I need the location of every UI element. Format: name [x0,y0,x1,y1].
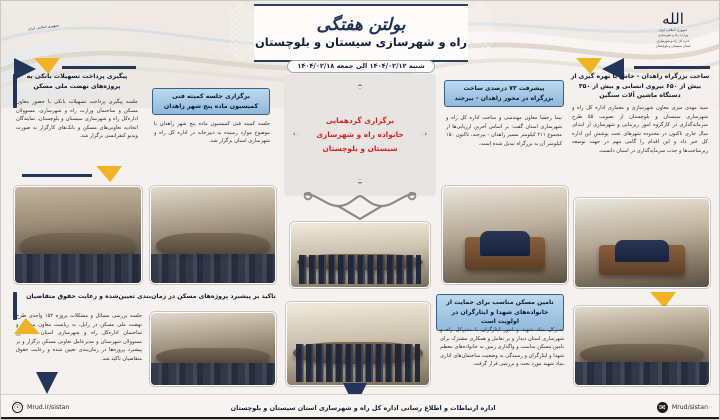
photo-content-6 [443,187,567,283]
bulletin-title-main: راه و شهرسازی سیستان و بلوچستان [255,36,467,49]
group-ceremony-photo [290,222,430,288]
ministry-logo-line-1: جمهوری اسلامی ایران [659,28,688,32]
photo-content-1 [15,187,141,283]
photo-content-8 [575,307,709,385]
bulletin-page: جمهوری اسلامی ایران الله جمهوری اسلامی ا… [0,0,720,420]
globe-icon: ☉ [12,402,23,413]
body-article-five-commission: جلسه کمیته فنی کمیسیون ماده پنج شهر زاهد… [154,120,270,146]
official-desk-photo-2 [574,198,710,288]
headline-bank-facilities: پیگیری پرداخت تسهیلات بانکی به پروژه‌های… [14,72,140,91]
body-martyrs-families-housing: مدیرکل بنیاد شهید و امور ایثارگران با مد… [440,326,564,369]
ministry-logo: الله جمهوری اسلامی ایران وزارت راه و شهر… [636,2,710,58]
medallion-line-3: سیستان و بلوچستان [305,142,415,156]
headline-zahedan-birjand-freeway: پیشرفت ۷۳ درصدی ساخت بزرگراه در محور زاه… [444,80,564,107]
ministry-logo-line-3: اداره کل راه و شهرسازی [657,39,690,43]
medallion-line-2: خانواده راه و شهرسازی [305,128,415,142]
footer-website-link[interactable]: ☉ Mrud.ir/sistan [12,402,69,413]
arrow-decoration-2 [36,372,58,394]
ministry-logo-line-2: وزارت راه و شهرسازی [658,33,688,37]
provincial-seal-logo: جمهوری اسلامی ایران [16,2,72,54]
date-range-wrapper: شنبه ۱۴۰۴/۰۲/۱۲ الی جمعه ۱۴۰۴/۰۲/۱۸ [243,60,479,73]
bar-decoration-1 [13,74,17,108]
medallion-text: برگزاری گردهمایی خانواده راه و شهرسازی س… [305,114,415,156]
photo-content-2 [151,187,275,283]
office-interior-photo [574,306,710,386]
rule-decoration-1 [62,66,136,69]
masthead: بولتن هفتگی راه و شهرسازی سیستان و بلوچس… [243,2,479,64]
ministry-logo-line-4: استان سیستان و بلوچستان [656,44,691,48]
medallion-line-1: برگزاری گردهمایی [305,114,415,128]
rule-decoration-2 [22,174,92,177]
seal-logo-text: جمهوری اسلامی ایران [28,24,60,33]
body-zahedan-birjand-freeway: نیما رخشا معاون مهندسی و ساخت اداره کل ر… [446,114,562,148]
headline-housing-schedule: تاکید بر پیشبرد پروژه‌های مسکن در زمان‌ب… [18,292,284,302]
photo-content-4 [291,223,429,287]
rule-decoration-3 [634,66,710,69]
handshake-meeting-photo [286,302,430,386]
conference-hall-photo [150,186,276,284]
meeting-room-photo [14,186,142,284]
medallion-filigree-icon [300,192,420,222]
telegram-icon: ✉ [657,402,668,413]
headline-zahedan-khash-freeway: ساخت بزرگراه زاهدان - خاش با بهره گیری ا… [570,72,710,101]
footer-telegram-handle[interactable]: ✉ Mrud/sistan [657,402,708,413]
footer-left-label: Mrud/sistan [672,404,708,411]
gold-accent-2 [96,166,122,182]
footer-right-label: Mrud.ir/sistan [27,404,69,411]
central-medallion: برگزاری گردهمایی خانواده راه و شهرسازی س… [284,74,436,196]
headline-article-five-commission: برگزاری جلسه کمیته فنی کمیسیون ماده پنج … [152,88,270,115]
round-table-meeting-photo [150,312,276,386]
date-range: شنبه ۱۴۰۴/۰۲/۱۲ الی جمعه ۱۴۰۴/۰۲/۱۸ [287,60,434,73]
body-zahedan-khash-freeway: سید مهدی میری معاون شهرسازی و معماری ادا… [572,104,708,155]
footer-center-text: اداره ارتباطات و اطلاع رسانی اداره کل را… [231,404,496,412]
iran-emblem-icon: الله [662,12,684,27]
photo-content-7 [575,199,709,287]
bulletin-title-script: بولتن هفتگی [317,17,406,35]
photo-content-5 [287,303,429,385]
body-bank-facilities: جلسه پیگیری پرداخت تسهیلات بانکی با حضور… [16,98,138,141]
photo-content-3 [151,313,275,385]
official-at-desk-photo [442,186,568,284]
body-housing-schedule: جلسه بررسی مسائل و مشکلات پروژه ۱۵۲ واحد… [16,312,142,363]
masthead-frame: بولتن هفتگی راه و شهرسازی سیستان و بلوچس… [254,4,468,62]
masthead-ornament-right-icon [463,0,497,66]
